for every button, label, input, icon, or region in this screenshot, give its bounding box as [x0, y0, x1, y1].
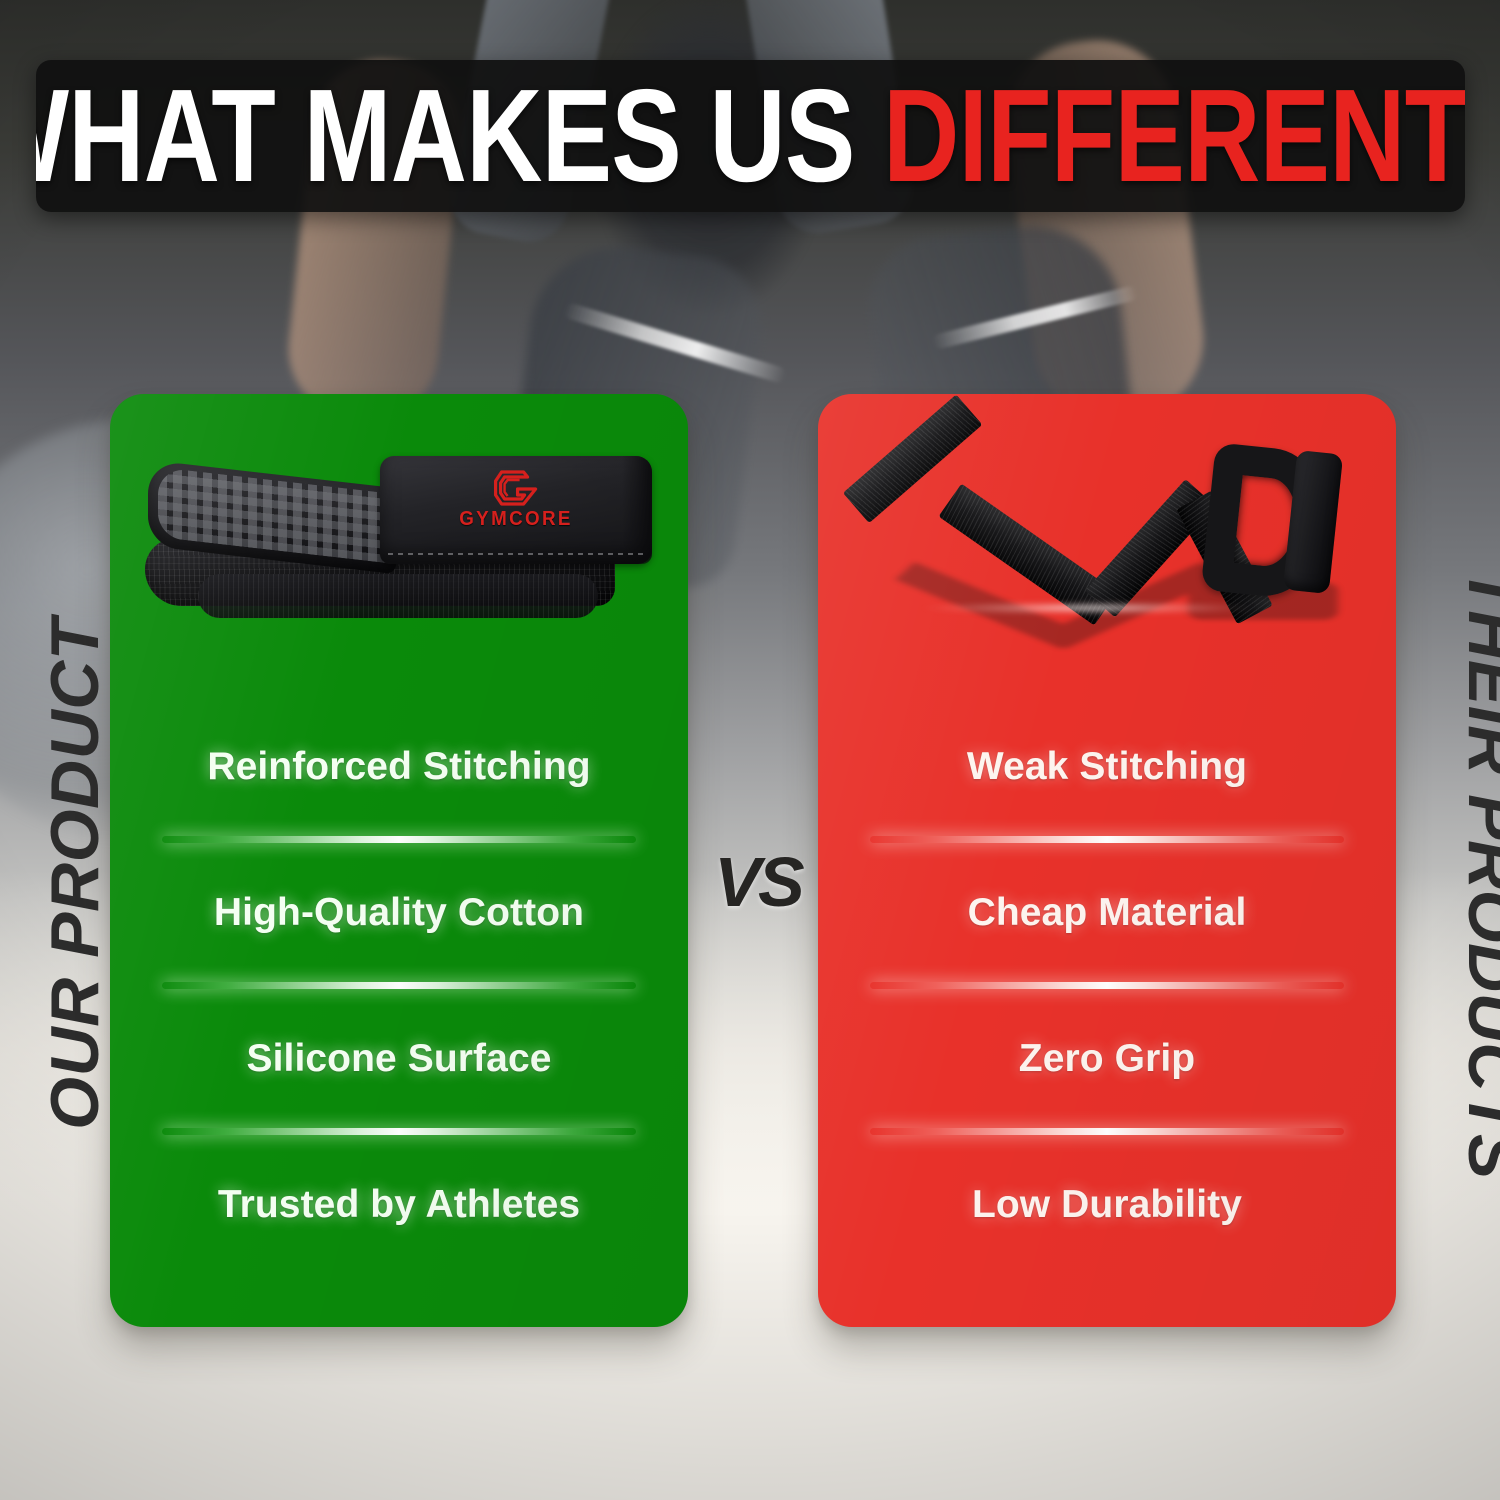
comparison-infographic: WHAT MAKES US DIFFERENT? OUR PRODUCT THE… — [0, 0, 1500, 1500]
feature-row: Weak Stitching — [846, 694, 1368, 840]
strap-underside-weave — [198, 574, 598, 618]
their-product-image — [818, 394, 1396, 694]
feature-label: High-Quality Cotton — [214, 892, 584, 935]
gymcore-wordmark: GYMCORE — [459, 508, 573, 531]
neoprene-cuff: GYMCORE — [380, 456, 652, 564]
feature-label: Trusted by Athletes — [218, 1184, 580, 1227]
silicone-grip-dots — [158, 467, 392, 564]
page-title-white-part: WHAT MAKES US — [36, 62, 883, 209]
our-product-feature-list: Reinforced Stitching High-Quality Cotton… — [110, 694, 688, 1327]
page-title: WHAT MAKES US DIFFERENT? — [36, 70, 1465, 202]
feature-label: Cheap Material — [968, 892, 1247, 935]
our-product-image: GYMCORE — [110, 394, 688, 694]
reinforced-stitch-line — [388, 553, 644, 555]
page-title-red-part: DIFFERENT? — [883, 62, 1465, 209]
feature-row: High-Quality Cotton — [138, 840, 660, 986]
feature-row: Low Durability — [846, 1132, 1368, 1278]
our-product-card[interactable]: GYMCORE Reinforced Stitching High-Qualit… — [110, 394, 688, 1327]
feature-label: Reinforced Stitching — [207, 746, 590, 789]
cuff-edge-shadow — [622, 456, 652, 564]
feature-row: Reinforced Stitching — [138, 694, 660, 840]
their-products-card[interactable]: Weak Stitching Cheap Material Zero Grip … — [818, 394, 1396, 1327]
feature-label: Weak Stitching — [967, 746, 1247, 789]
title-banner: WHAT MAKES US DIFFERENT? — [36, 60, 1465, 212]
feature-label: Low Durability — [972, 1184, 1242, 1227]
their-products-feature-list: Weak Stitching Cheap Material Zero Grip … — [818, 694, 1396, 1327]
gymcore-logo: GYMCORE — [456, 470, 577, 531]
vs-badge: VS — [688, 836, 828, 928]
feature-row: Zero Grip — [846, 986, 1368, 1132]
product-floor-glow — [878, 600, 1298, 616]
feature-label: Silicone Surface — [246, 1038, 551, 1081]
competitor-strap-illustration — [838, 430, 1378, 650]
strap-underside — [198, 574, 598, 618]
gymcore-g-monogram-icon — [494, 470, 538, 506]
gymcore-strap-illustration: GYMCORE — [140, 446, 660, 636]
their-products-side-label: THEIR PRODUCTS — [1453, 504, 1500, 1244]
feature-row: Silicone Surface — [138, 986, 660, 1132]
feature-row: Trusted by Athletes — [138, 1132, 660, 1278]
our-product-side-label: OUR PRODUCT — [36, 564, 114, 1184]
feature-label: Zero Grip — [1019, 1038, 1195, 1081]
feature-row: Cheap Material — [846, 840, 1368, 986]
